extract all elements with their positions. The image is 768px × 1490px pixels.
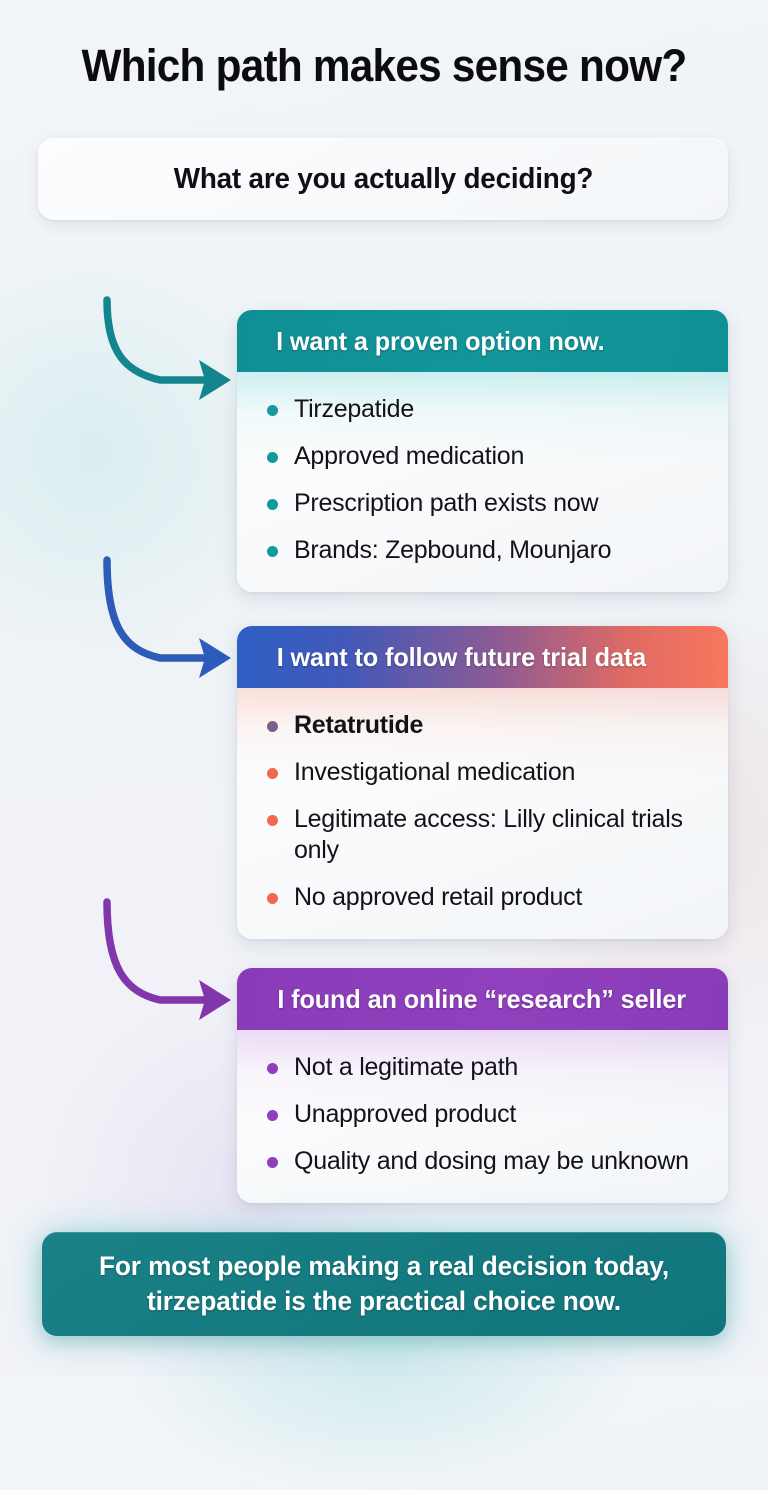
conclusion-banner-label: For most people making a real decision t… <box>77 1249 690 1318</box>
branch-bullet-list: Retatrutide Investigational medication L… <box>267 710 702 913</box>
branch-card-body: Retatrutide Investigational medication L… <box>237 688 728 939</box>
branch-card-title: I want a proven option now. <box>276 326 605 357</box>
branch-card-body: Tirzepatide Approved medication Prescrip… <box>237 372 728 592</box>
bullet-dot-icon <box>267 1157 278 1168</box>
list-item: Not a legitimate path <box>267 1052 702 1083</box>
branch-card-proven-option: I want a proven option now. Tirzepatide … <box>237 310 728 592</box>
bullet-text: Quality and dosing may be unknown <box>294 1146 689 1177</box>
branch-bullet-list: Not a legitimate path Unapproved product… <box>267 1052 702 1177</box>
page-title: Which path makes sense now? <box>23 40 745 92</box>
bullet-dot-icon <box>267 721 278 732</box>
branch-card-header: I want to follow future trial data <box>237 626 728 688</box>
list-item: Investigational medication <box>267 757 702 788</box>
flow-arrow-branch-2 <box>107 560 231 678</box>
bullet-dot-icon <box>267 405 278 416</box>
branch-card-title: I want to follow future trial data <box>277 642 646 673</box>
bullet-dot-icon <box>267 1063 278 1074</box>
infographic-page: { "title": "Which path makes sense now?"… <box>0 0 768 1376</box>
branch-card-future-trial-data: I want to follow future trial data Retat… <box>237 626 728 939</box>
bullet-text: Not a legitimate path <box>294 1052 518 1083</box>
branch-card-header: I want a proven option now. <box>237 310 728 372</box>
bullet-dot-icon <box>267 768 278 779</box>
bullet-dot-icon <box>267 1110 278 1121</box>
bullet-dot-icon <box>267 893 278 904</box>
bullet-text: Legitimate access: Lilly clinical trials… <box>294 804 702 866</box>
branch-card-title: I found an online “research” seller <box>277 984 686 1015</box>
bullet-text: Investigational medication <box>294 757 575 788</box>
bullet-text: Unapproved product <box>294 1099 516 1130</box>
bullet-text: No approved retail product <box>294 882 582 913</box>
branch-card-body: Not a legitimate path Unapproved product… <box>237 1030 728 1203</box>
bullet-text: Brands: Zepbound, Mounjaro <box>294 535 611 566</box>
bullet-text: Approved medication <box>294 441 524 472</box>
list-item: Tirzepatide <box>267 394 702 425</box>
decision-question-label: What are you actually deciding? <box>173 163 592 196</box>
branch-bullet-list: Tirzepatide Approved medication Prescrip… <box>267 394 702 566</box>
list-item: Brands: Zepbound, Mounjaro <box>267 535 702 566</box>
list-item: Retatrutide <box>267 710 702 741</box>
bullet-text: Retatrutide <box>294 710 423 741</box>
bullet-dot-icon <box>267 499 278 510</box>
bullet-text: Tirzepatide <box>294 394 414 425</box>
branch-card-research-seller: I found an online “research” seller Not … <box>237 968 728 1203</box>
list-item: Prescription path exists now <box>267 488 702 519</box>
flow-arrow-branch-3 <box>107 902 231 1020</box>
bullet-text: Prescription path exists now <box>294 488 598 519</box>
bullet-dot-icon <box>267 546 278 557</box>
bullet-dot-icon <box>267 815 278 826</box>
branch-card-header: I found an online “research” seller <box>237 968 728 1030</box>
list-item: Approved medication <box>267 441 702 472</box>
flow-arrow-branch-1 <box>107 300 231 400</box>
decision-question-card: What are you actually deciding? <box>38 138 728 220</box>
list-item: Legitimate access: Lilly clinical trials… <box>267 804 702 866</box>
list-item: Unapproved product <box>267 1099 702 1130</box>
conclusion-banner: For most people making a real decision t… <box>42 1232 726 1336</box>
list-item: No approved retail product <box>267 882 702 913</box>
list-item: Quality and dosing may be unknown <box>267 1146 702 1177</box>
bullet-dot-icon <box>267 452 278 463</box>
